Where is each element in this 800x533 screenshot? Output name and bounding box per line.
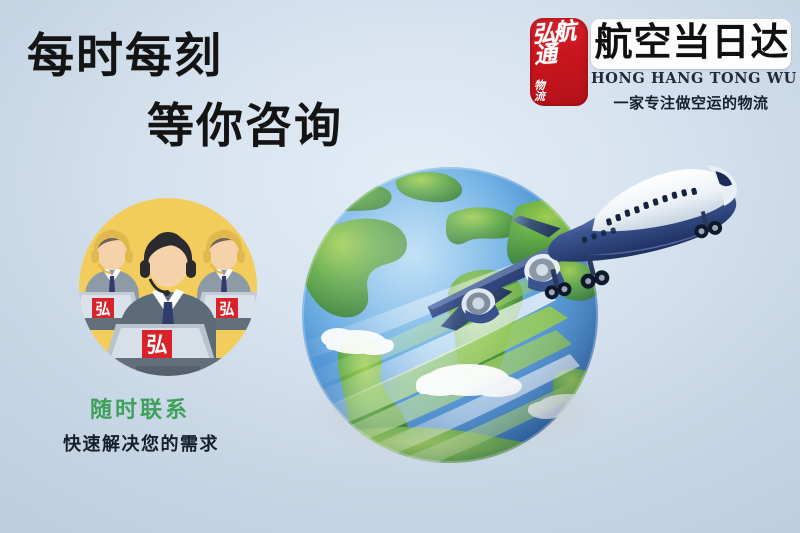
headline-line-1: 每时每刻 [27,32,223,79]
caption-fast-solution: 快速解决您的需求 [63,430,219,456]
svg-text:弘: 弘 [147,332,168,357]
customer-service-svg: 弘 弘 [56,198,280,380]
svg-text:弘: 弘 [95,300,110,318]
brand-tagline: 一家专注做空运的物流 [591,92,791,113]
promo-poster: 每时每刻 等你咨询 [0,0,800,533]
brand-pinyin: HONG HANG TONG WU LIU [591,70,791,87]
caption-contact-anytime: 随时联系 [90,392,190,424]
svg-text:弘: 弘 [219,300,234,318]
globe-airplane-illustration [360,168,660,468]
globe-sphere [290,167,616,496]
desk-pedestal [136,366,200,380]
seal-main-text: 弘航通 [531,20,588,67]
headline-line-2: 等你咨询 [147,102,343,149]
globe-airplane-svg [300,158,740,478]
customer-service-illustration: 弘 弘 [56,198,280,378]
brand-title: 航空当日达 [594,21,790,66]
brand-logo-block[interactable]: 弘航通 物流 航空当日达 HONG HANG TONG WU LIU 一家专注做… [528,18,792,116]
seal-sub-text: 物流 [534,80,552,102]
brand-seal-stamp: 弘航通 物流 [530,18,588,106]
